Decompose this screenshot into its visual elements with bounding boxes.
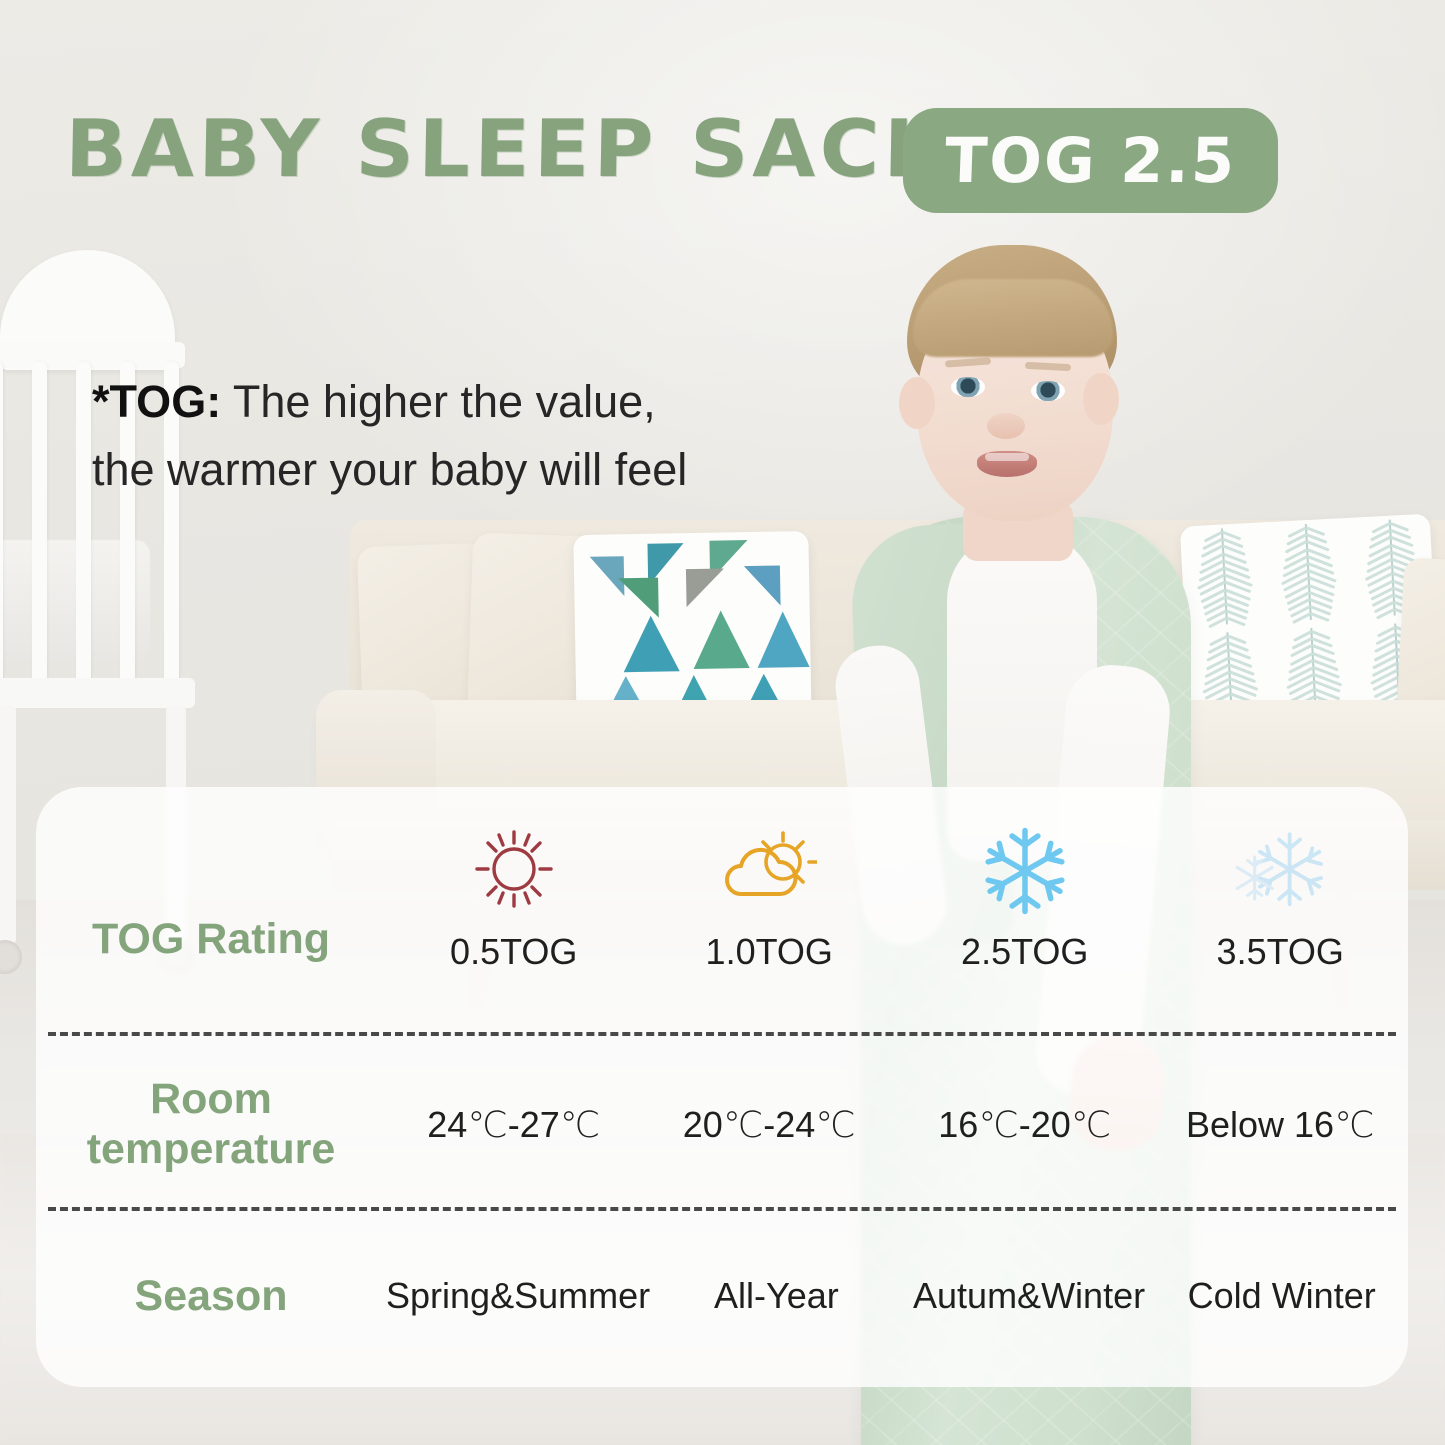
table-row-tog-rating: TOG Rating — [36, 817, 1408, 1032]
row-label-line-2: temperature — [36, 1125, 386, 1175]
crib-leg — [0, 705, 16, 945]
row-divider — [48, 1032, 1396, 1036]
table-row-room-temperature: Room temperature 24℃-27℃ 20℃-24℃ 16℃-20℃… — [36, 1045, 1408, 1205]
tog-comparison-table: TOG Rating — [36, 787, 1408, 1387]
pillow-leaf-motif — [1264, 518, 1353, 626]
baby-eye — [951, 377, 985, 397]
pillow-triangle — [693, 610, 750, 669]
table-row-season: Season Spring&Summer All-Year Autum&Wint… — [36, 1221, 1408, 1371]
sun-icon — [471, 817, 557, 925]
tog-value-2: 2.5TOG — [961, 931, 1088, 973]
baby-eye — [1031, 381, 1065, 401]
snowflake-icon — [979, 817, 1071, 925]
tog-value-0: 0.5TOG — [450, 931, 577, 973]
row-divider — [48, 1207, 1396, 1211]
crib-slat — [32, 362, 47, 692]
snowflake-faded-icon — [1232, 817, 1328, 925]
baby-nose — [987, 413, 1025, 439]
page-title: BABY SLEEP SACK — [64, 110, 951, 189]
table-cell-season-3: Cold Winter — [1155, 1275, 1408, 1317]
table-cell-season-0: Spring&Summer — [386, 1275, 650, 1317]
pillow-triangle — [623, 615, 680, 672]
pillow-triangle — [686, 568, 725, 607]
tog-value-1: 1.0TOG — [706, 931, 833, 973]
header: BABY SLEEP SACK TOG 2.5 — [0, 0, 1445, 250]
tog-note-line1: The higher the value, — [221, 376, 655, 427]
tog-note-line2: the warmer your baby will feel — [92, 444, 687, 495]
baby-ear — [1083, 373, 1119, 425]
table-cell-tog-0: 0.5TOG — [386, 817, 642, 973]
tog-badge: TOG 2.5 — [903, 108, 1278, 213]
table-cell-temp-3: Below 16℃ — [1153, 1104, 1409, 1146]
tog-badge-label: TOG 2.5 — [944, 130, 1237, 192]
table-cell-season-2: Autum&Winter — [903, 1275, 1156, 1317]
crib-top-rail — [0, 342, 185, 368]
sun-behind-cloud-icon — [721, 817, 817, 925]
crib-base-rail — [0, 678, 195, 708]
table-cell-season-1: All-Year — [650, 1275, 903, 1317]
tog-note-prefix: *TOG: — [92, 376, 221, 427]
crib-wheel — [0, 940, 22, 974]
table-cell-temp-1: 20℃-24℃ — [642, 1104, 898, 1146]
row-label-tog-rating: TOG Rating — [36, 817, 386, 964]
crib-slat — [0, 362, 3, 692]
baby-upper-lip-highlight — [985, 453, 1029, 461]
baby-hair-fringe — [913, 279, 1113, 357]
tog-definition-note: *TOG: The higher the value, the warmer y… — [92, 368, 852, 505]
table-cell-temp-2: 16℃-20℃ — [897, 1104, 1153, 1146]
crib-slat — [76, 362, 91, 692]
pillow-triangle — [618, 578, 659, 619]
infographic-canvas: BABY SLEEP SACK TOG 2.5 *TOG: The higher… — [0, 0, 1445, 1445]
baby-ear — [899, 377, 935, 429]
pillow-triangle — [744, 565, 781, 606]
tog-value-3: 3.5TOG — [1217, 931, 1344, 973]
row-label-room-temperature: Room temperature — [36, 1075, 386, 1175]
pillow-triangle — [757, 611, 810, 668]
table-cell-tog-1: 1.0TOG — [642, 817, 898, 973]
row-label-line-1: Room — [36, 1075, 386, 1125]
table-cell-temp-0: 24℃-27℃ — [386, 1104, 642, 1146]
table-cell-tog-3: 3.5TOG — [1153, 817, 1409, 973]
table-cell-tog-2: 2.5TOG — [897, 817, 1153, 973]
row-label-season: Season — [36, 1272, 386, 1321]
